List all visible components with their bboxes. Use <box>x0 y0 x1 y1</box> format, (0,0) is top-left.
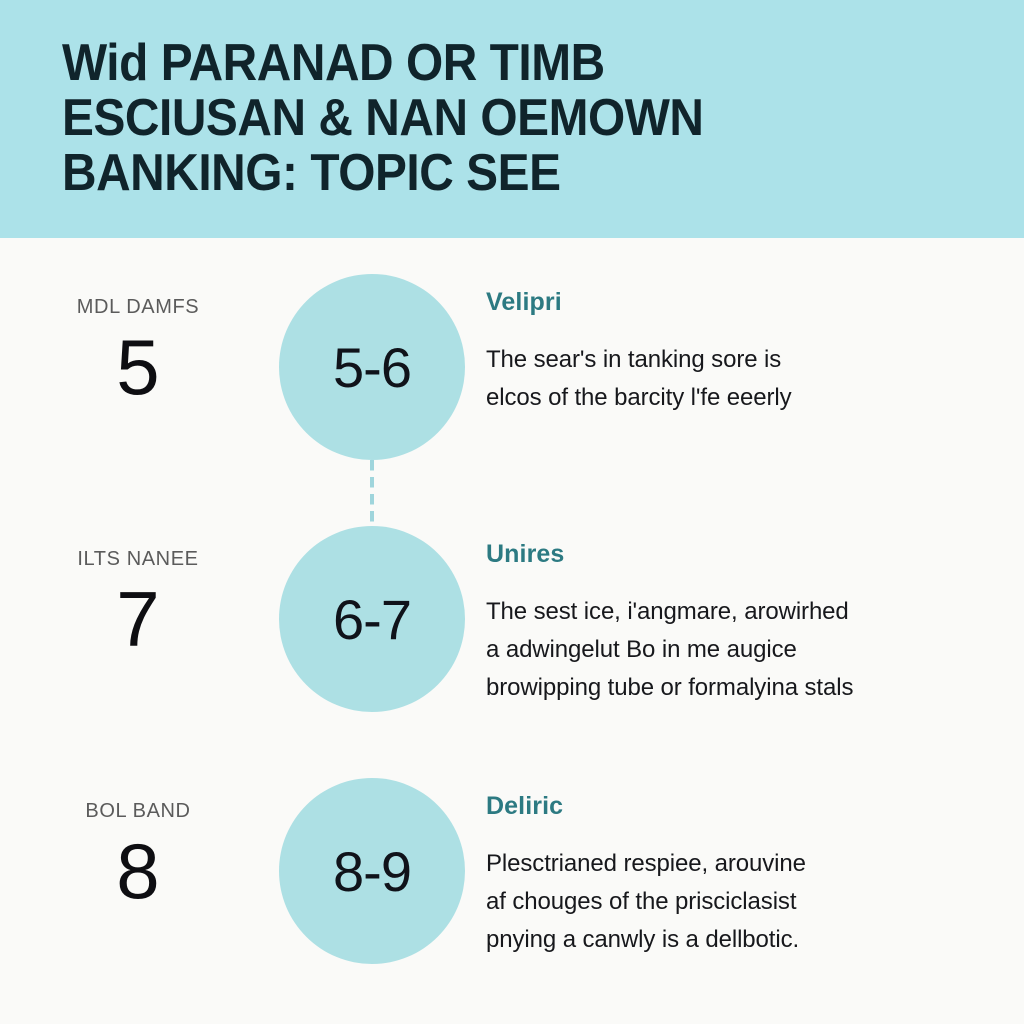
score-column: MDL DAMFS 5 <box>0 274 258 409</box>
range-badge-label: 6-7 <box>333 587 411 652</box>
badge-column: 6-7 <box>258 526 486 712</box>
badge-column: 5-6 <box>258 274 486 460</box>
description-column: Unires The sest ice, i'angmare, arowirhe… <box>486 526 1024 707</box>
list-item: BOL BAND 8 8-9 Deliric Plesctrianed resp… <box>0 778 1024 1024</box>
range-badge-label: 8-9 <box>333 839 411 904</box>
range-badge: 8-9 <box>279 778 465 964</box>
score-label: MDL DAMFS <box>18 296 258 319</box>
description-heading: Unires <box>486 540 986 569</box>
description-body: The sest ice, i'angmare, arowirhed a adw… <box>486 593 986 707</box>
badge-column: 8-9 <box>258 778 486 964</box>
score-value: 5 <box>18 325 258 409</box>
range-badge-label: 5-6 <box>333 335 411 400</box>
score-value: 8 <box>18 829 258 913</box>
description-heading: Velipri <box>486 288 986 317</box>
score-column: BOL BAND 8 <box>0 778 258 913</box>
score-label: BOL BAND <box>18 800 258 823</box>
range-badge: 5-6 <box>279 274 465 460</box>
score-label: ILTS NANEE <box>18 548 258 571</box>
list-item: ILTS NANEE 7 6-7 Unires The sest ice, i'… <box>0 526 1024 772</box>
description-column: Deliric Plesctrianed respiee, arouvine a… <box>486 778 1024 959</box>
description-column: Velipri The sear's in tanking sore is el… <box>486 274 1024 417</box>
range-badge: 6-7 <box>279 526 465 712</box>
score-band-list: MDL DAMFS 5 5-6 Velipri The sear's in ta… <box>0 238 1024 1024</box>
header-banner: Wid PARANAD OR TIMB ESCIUSAN & NAN OEMOW… <box>0 0 1024 238</box>
score-column: ILTS NANEE 7 <box>0 526 258 661</box>
dashed-connector-icon <box>370 460 374 528</box>
list-item: MDL DAMFS 5 5-6 Velipri The sear's in ta… <box>0 274 1024 520</box>
description-heading: Deliric <box>486 792 986 821</box>
description-body: The sear's in tanking sore is elcos of t… <box>486 341 986 417</box>
score-value: 7 <box>18 577 258 661</box>
description-body: Plesctrianed respiee, arouvine af chouge… <box>486 845 986 959</box>
page-title: Wid PARANAD OR TIMB ESCIUSAN & NAN OEMOW… <box>62 36 892 201</box>
